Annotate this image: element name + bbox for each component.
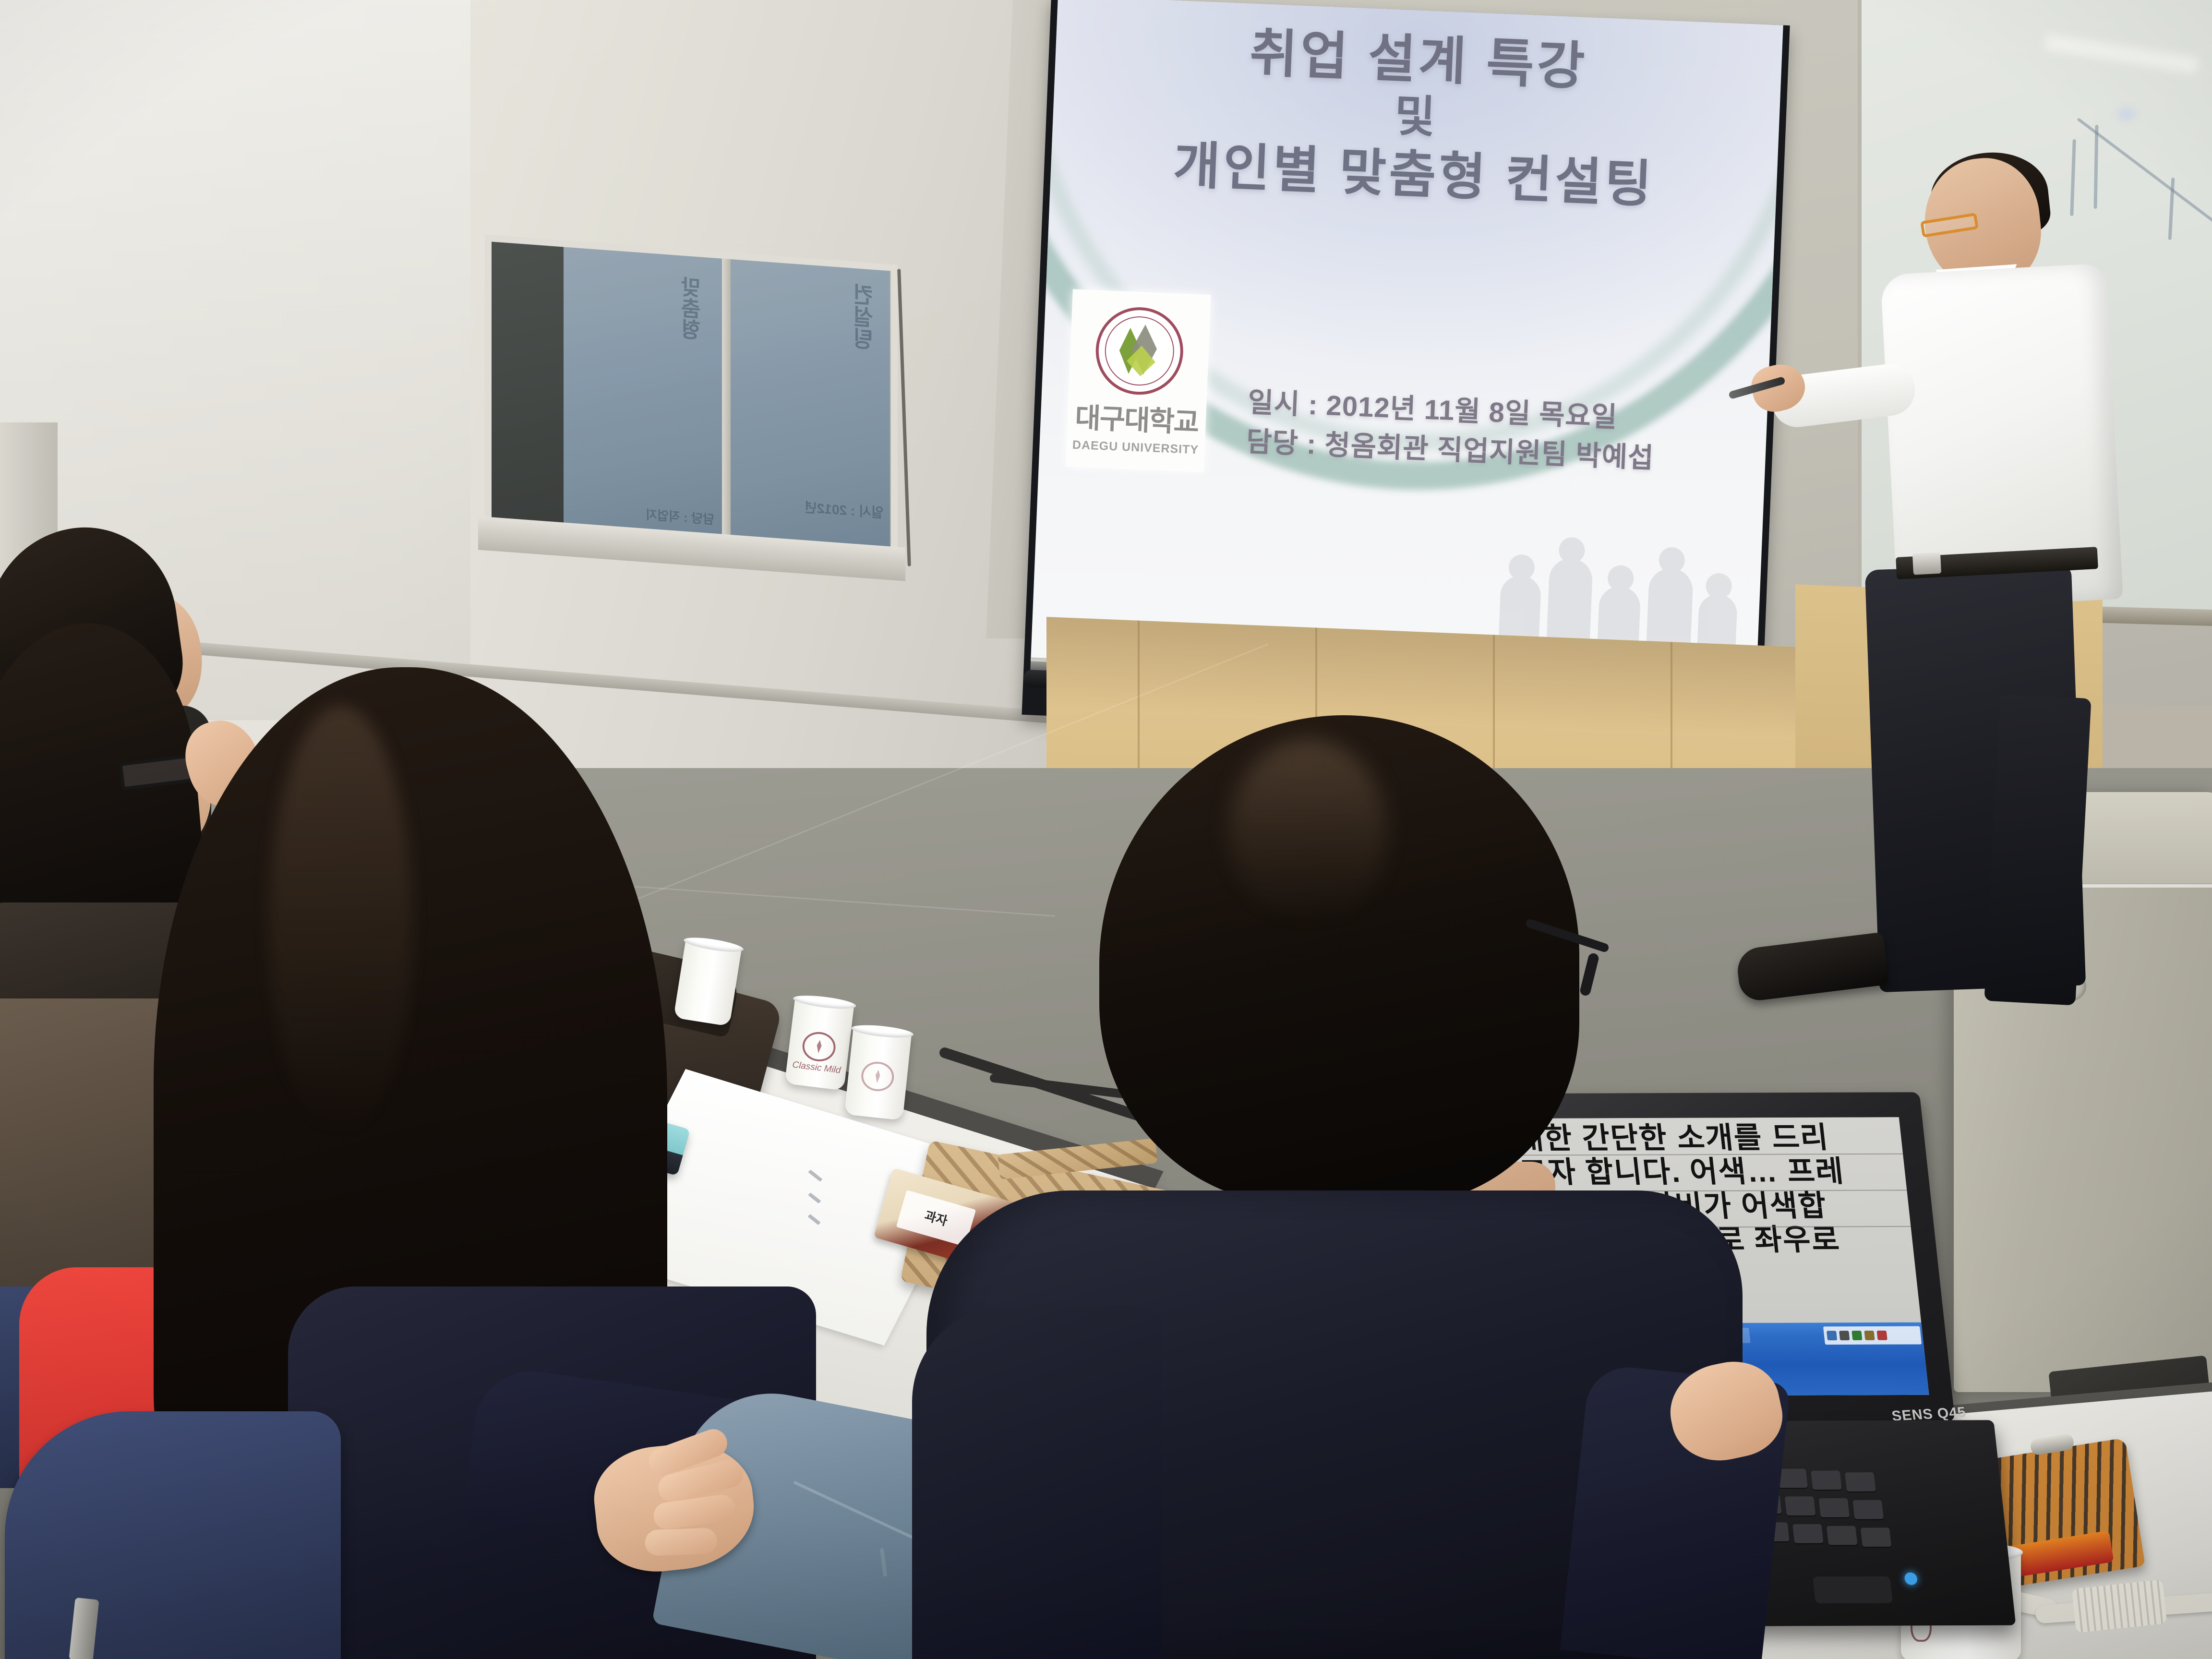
paper-cup[interactable]: Classic Mild [784, 998, 854, 1091]
window-mullion [722, 259, 731, 543]
window-pane-left [492, 241, 564, 531]
cup-logo-icon [801, 1030, 837, 1063]
presenter-leg-rear [1984, 694, 2091, 1005]
whiteboard-highlight [2117, 108, 2136, 120]
blue-chair-seat[interactable] [5, 1411, 341, 1659]
student-d-hair-highlight [1229, 739, 1387, 922]
window-reflected-text: 담당 : 직업지 [646, 505, 714, 528]
classroom-photo-scene: 맞춤형 담당 : 직업지 컨설팅 일시 : 2012년 취업 설계 특강 및 개… [0, 0, 2212, 1659]
paper-scribble [807, 1214, 821, 1225]
student-d-shoulder [912, 1306, 1162, 1659]
laptop-touchpad[interactable] [1813, 1576, 1893, 1603]
university-seal-icon [1094, 305, 1185, 396]
window: 맞춤형 담당 : 직업지 컨설팅 일시 : 2012년 [485, 234, 898, 562]
paper-scribble [808, 1192, 821, 1203]
logo-english-name: DAEGU UNIVERSITY [1072, 438, 1199, 457]
window-reflected-text: 맞춤형 [678, 276, 709, 341]
tray-icon-battery[interactable] [1864, 1331, 1875, 1340]
paper-scribble [808, 1170, 823, 1182]
student-c-hair-highlight [269, 706, 413, 1138]
university-logo: 대구대학교 DAEGU UNIVERSITY [1066, 289, 1211, 472]
window-reflected-text: 컨설팅 [849, 282, 880, 351]
presenter-belt-buckle-icon [1912, 553, 1941, 575]
tray-icon-clock[interactable] [1877, 1331, 1887, 1340]
tray-icon-volume[interactable] [1839, 1331, 1850, 1340]
slide-canvas: 취업 설계 특강 및 개인별 맞춤형 컨설팅 대구대학교 DAEGU UNIVE… [1031, 0, 1783, 691]
cup-brand-text: Classic Mild [786, 1059, 847, 1077]
slide-title-line1: 취업 설계 특강 [1249, 24, 1589, 96]
slide-title: 취업 설계 특강 및 개인별 맞춤형 컨설팅 [1050, 15, 1782, 220]
window-reflected-text: 일시 : 2012년 [805, 497, 883, 522]
tray-icon-network[interactable] [1827, 1331, 1837, 1340]
system-tray[interactable] [1823, 1326, 1922, 1345]
tray-icon-shield[interactable] [1851, 1331, 1862, 1340]
paper-cup[interactable] [844, 1027, 912, 1120]
logo-korean-name: 대구대학교 [1074, 395, 1199, 440]
seal-diamond-mark [1118, 324, 1161, 378]
doc-line: 대한 간단한 소개를 드리 [1514, 1121, 1900, 1155]
window-pane-right: 컨설팅 일시 : 2012년 [731, 259, 890, 555]
cup-logo-icon [860, 1060, 895, 1093]
window-pane-mid: 맞춤형 담당 : 직업지 [564, 247, 722, 542]
doc-line: 고자 합니다. 어색… 프레 [1518, 1155, 1904, 1190]
